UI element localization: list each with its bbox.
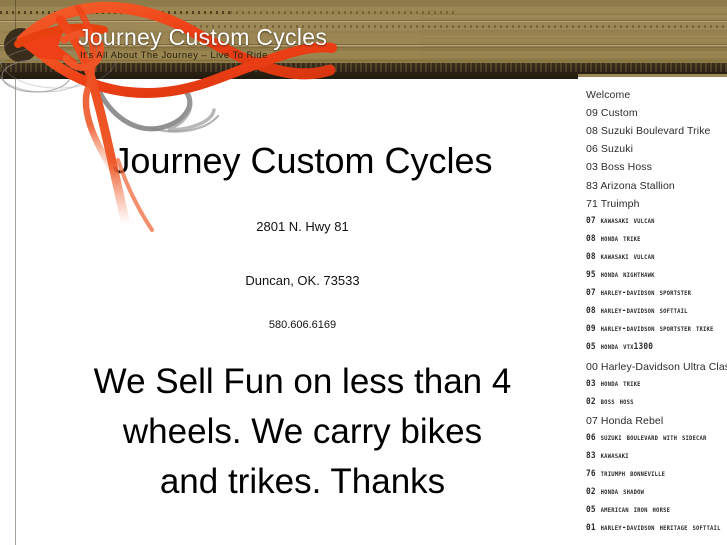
sidebar-item-4[interactable]: 03 Boss Hoss	[586, 161, 652, 173]
sidebar-item-2[interactable]: 08 Suzuki Boulevard Trike	[586, 125, 710, 137]
banner-title: Journey Custom Cycles	[78, 24, 327, 51]
address-line-2: Duncan, OK. 73533	[30, 273, 575, 289]
banner-rule-2	[0, 21, 727, 22]
sidebar-item-21[interactable]: 76 Triumph Bonneville	[586, 469, 665, 479]
sidebar-item-14[interactable]: 05 Honda VTX1300	[586, 342, 653, 352]
sidebar-item-9[interactable]: 08 Kawasaki Vulcan	[586, 252, 655, 262]
sales-pitch: We Sell Fun on less than 4 wheels. We ca…	[30, 357, 575, 507]
sidebar-item-23[interactable]: 05 American Iron Horse	[586, 505, 670, 515]
sidebar-item-24[interactable]: 01 Harley-Davidson Heritage Softtail	[586, 523, 721, 533]
sales-pitch-line-2: wheels. We carry bikes	[30, 407, 575, 457]
sidebar-item-15[interactable]: 00 Harley-Davidson Ultra Classic	[586, 361, 727, 373]
sidebar-item-3[interactable]: 06 Suzuki	[586, 143, 633, 155]
sidebar-item-5[interactable]: 83 Arizona Stallion	[586, 180, 675, 192]
sidebar-item-22[interactable]: 02 Honda Shadow	[586, 487, 644, 497]
main-content: Journey Custom Cycles 2801 N. Hwy 81 Dun…	[30, 140, 575, 507]
banner-disc-graphic	[4, 28, 38, 62]
spacer-1	[30, 181, 575, 219]
sidebar-item-0[interactable]: Welcome	[586, 89, 630, 101]
sidebar-item-16[interactable]: 03 Honda Trike	[586, 379, 641, 389]
phone-number: 580.606.6169	[30, 319, 575, 331]
sidebar-item-11[interactable]: 07 Harley-Davidson Sportster	[586, 288, 691, 298]
sidebar-item-13[interactable]: 09 Harley-Davidson Sportster Trike	[586, 324, 714, 334]
banner-dot-row-2	[230, 11, 455, 14]
sidebar-item-10[interactable]: 95 Honda Nighthawk	[586, 270, 655, 280]
spacer-2	[30, 235, 575, 273]
sidebar-item-19[interactable]: 06 Suzuki Boulevard with Sidecar	[586, 433, 707, 443]
banner-dark-band-speckle	[0, 63, 727, 72]
address-line-1: 2801 N. Hwy 81	[30, 219, 575, 235]
sidebar-item-12[interactable]: 08 Harley-Davidson Softtail	[586, 306, 688, 316]
banner-dot-row-1	[0, 11, 230, 14]
sidebar-item-7[interactable]: 07 Kawasaki Vulcan	[586, 216, 655, 226]
sidebar-item-18[interactable]: 07 Honda Rebel	[586, 415, 663, 427]
page-title: Journey Custom Cycles	[30, 140, 575, 181]
sidebar-navigation: Welcome09 Custom08 Suzuki Boulevard Trik…	[578, 74, 727, 545]
site-header-banner: Journey Custom Cycles It's All About The…	[0, 0, 727, 79]
sidebar-item-17[interactable]: 02 Boss Hoss	[586, 397, 634, 407]
banner-tagline: It's All About The Journey – Live To Rid…	[80, 50, 268, 61]
content-left-rule	[15, 79, 16, 545]
sidebar-item-8[interactable]: 08 Honda Trike	[586, 234, 641, 244]
sidebar-item-1[interactable]: 09 Custom	[586, 107, 638, 119]
sidebar-item-20[interactable]: 83 Kawasaki	[586, 451, 629, 461]
sidebar-item-6[interactable]: 71 Truimph	[586, 198, 640, 210]
sidebar-top-rule	[578, 74, 727, 77]
spacer-3	[30, 289, 575, 319]
sales-pitch-line-3: and trikes. Thanks	[30, 457, 575, 507]
sales-pitch-line-1: We Sell Fun on less than 4	[30, 357, 575, 407]
